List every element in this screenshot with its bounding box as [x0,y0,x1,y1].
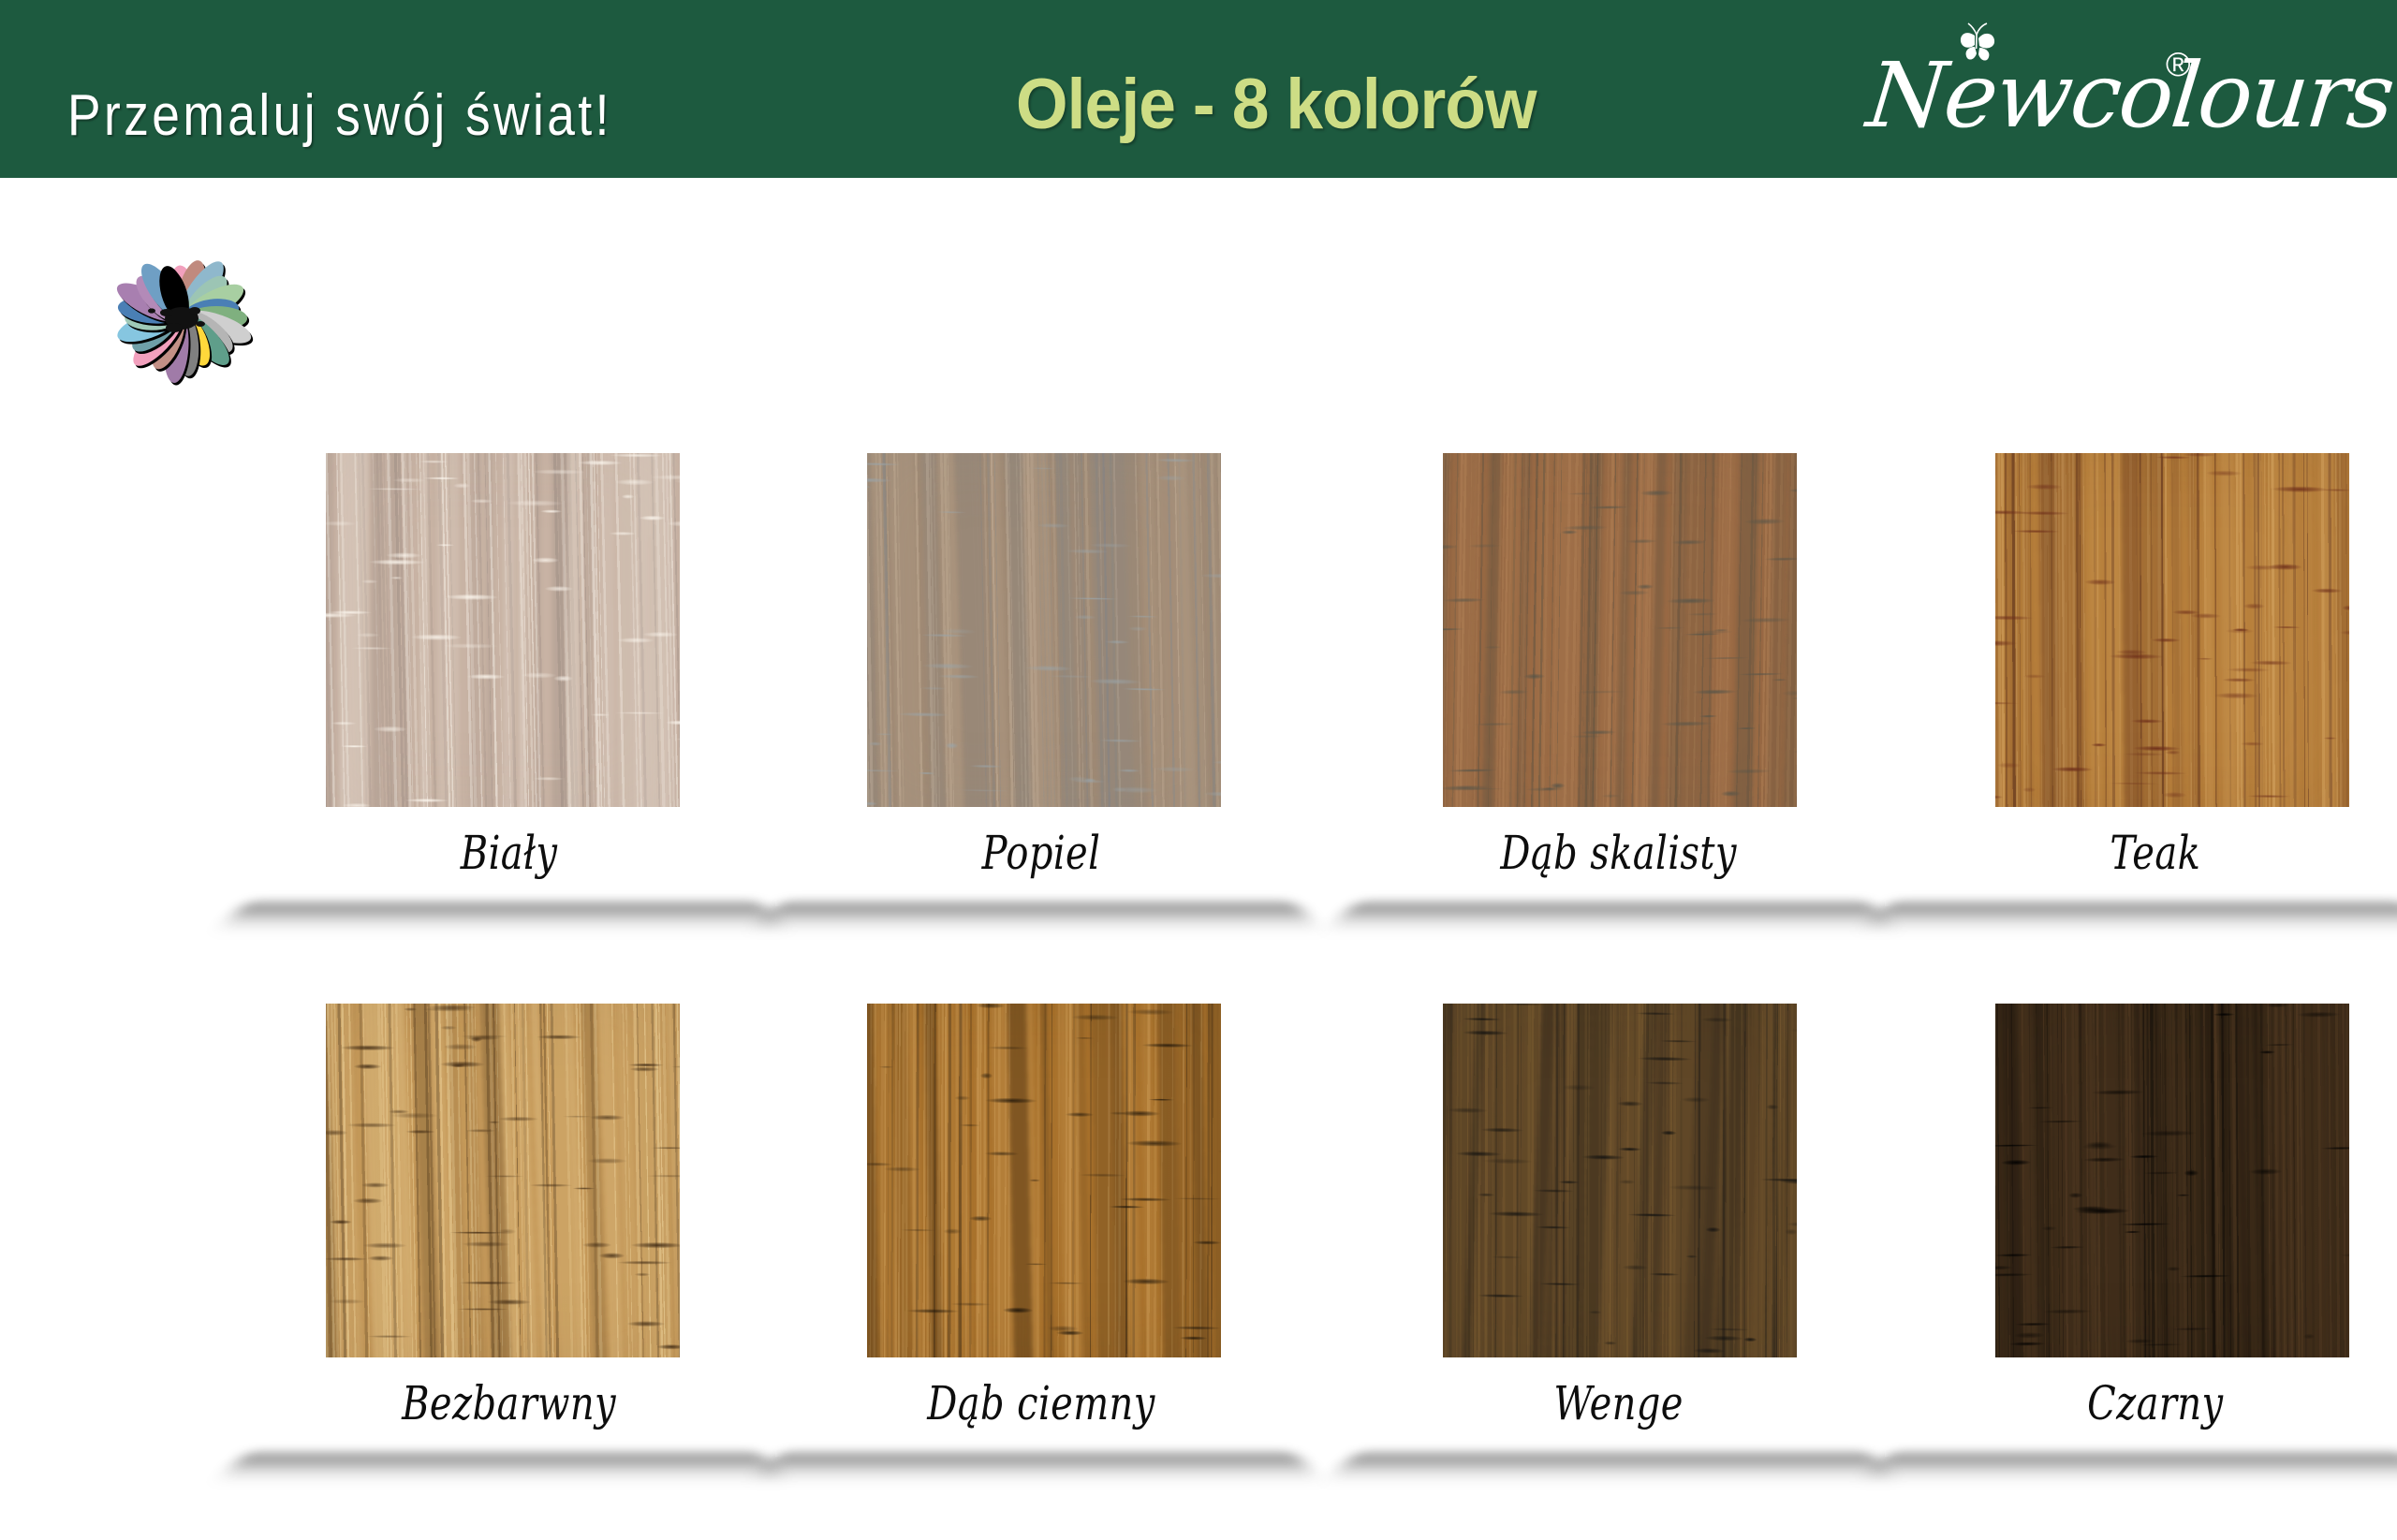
swatch-label: Dąb skalisty [1404,826,1823,880]
swatch-card[interactable]: Popiel [775,447,1300,906]
page-title: Oleje - 8 kolorów [1016,64,1537,145]
swatch-card[interactable]: Bezbarwny [242,998,766,1457]
swatch-card[interactable]: Dąb ciemny [775,998,1300,1457]
wood-swatch-czarny [1995,1004,2349,1357]
wood-swatch-popiel [867,453,1221,807]
wood-swatch-dab-ciemny [867,1004,1221,1357]
swatch-row-1: Biały Popiel Dąb skalisty [0,447,2397,967]
swatch-label: Teak [1937,826,2357,880]
swatch-label: Popiel [828,826,1247,880]
card-shadow [753,1453,1318,1482]
swatch-grid: Biały Popiel Dąb skalisty [0,178,2397,1540]
card-shadow [1862,1453,2397,1482]
card-shadow [753,902,1318,931]
tagline-text: Przemaluj swój świat! [67,82,612,149]
wood-swatch-bialy [326,453,680,807]
card-shadow [1329,902,1894,931]
swatch-card[interactable]: Czarny [1885,998,2397,1457]
wood-swatch-bezbarwny [326,1004,680,1357]
swatch-card[interactable]: Wenge [1351,998,1875,1457]
header-band: Przemaluj swój świat! Oleje - 8 kolorów … [0,0,2397,178]
swatch-label: Dąb ciemny [828,1376,1247,1430]
swatch-card[interactable]: Biały [242,447,766,906]
swatch-label: Bezbarwny [294,1376,713,1430]
wood-swatch-dab-skalisty [1443,453,1797,807]
poster-root: Przemaluj swój świat! Oleje - 8 kolorów … [0,0,2397,1540]
wood-swatch-wenge [1443,1004,1797,1357]
wood-swatch-teak [1995,453,2349,807]
card-shadow [1862,902,2397,931]
swatch-card[interactable]: Teak [1885,447,2397,906]
swatch-label: Wenge [1404,1376,1823,1430]
swatch-card[interactable]: Dąb skalisty [1351,447,1875,906]
logo-wordmark: Newcolours [1862,43,2397,148]
card-shadow [219,1453,785,1482]
swatch-label: Biały [294,826,713,880]
registered-mark: ® [2166,45,2191,84]
brand-logo: Newcolours ® [1868,17,2317,167]
swatch-label: Czarny [1937,1376,2357,1430]
swatch-row-2: Bezbarwny Dąb ciemny Wenge [0,998,2397,1518]
card-shadow [1329,1453,1894,1482]
card-shadow [219,902,785,931]
